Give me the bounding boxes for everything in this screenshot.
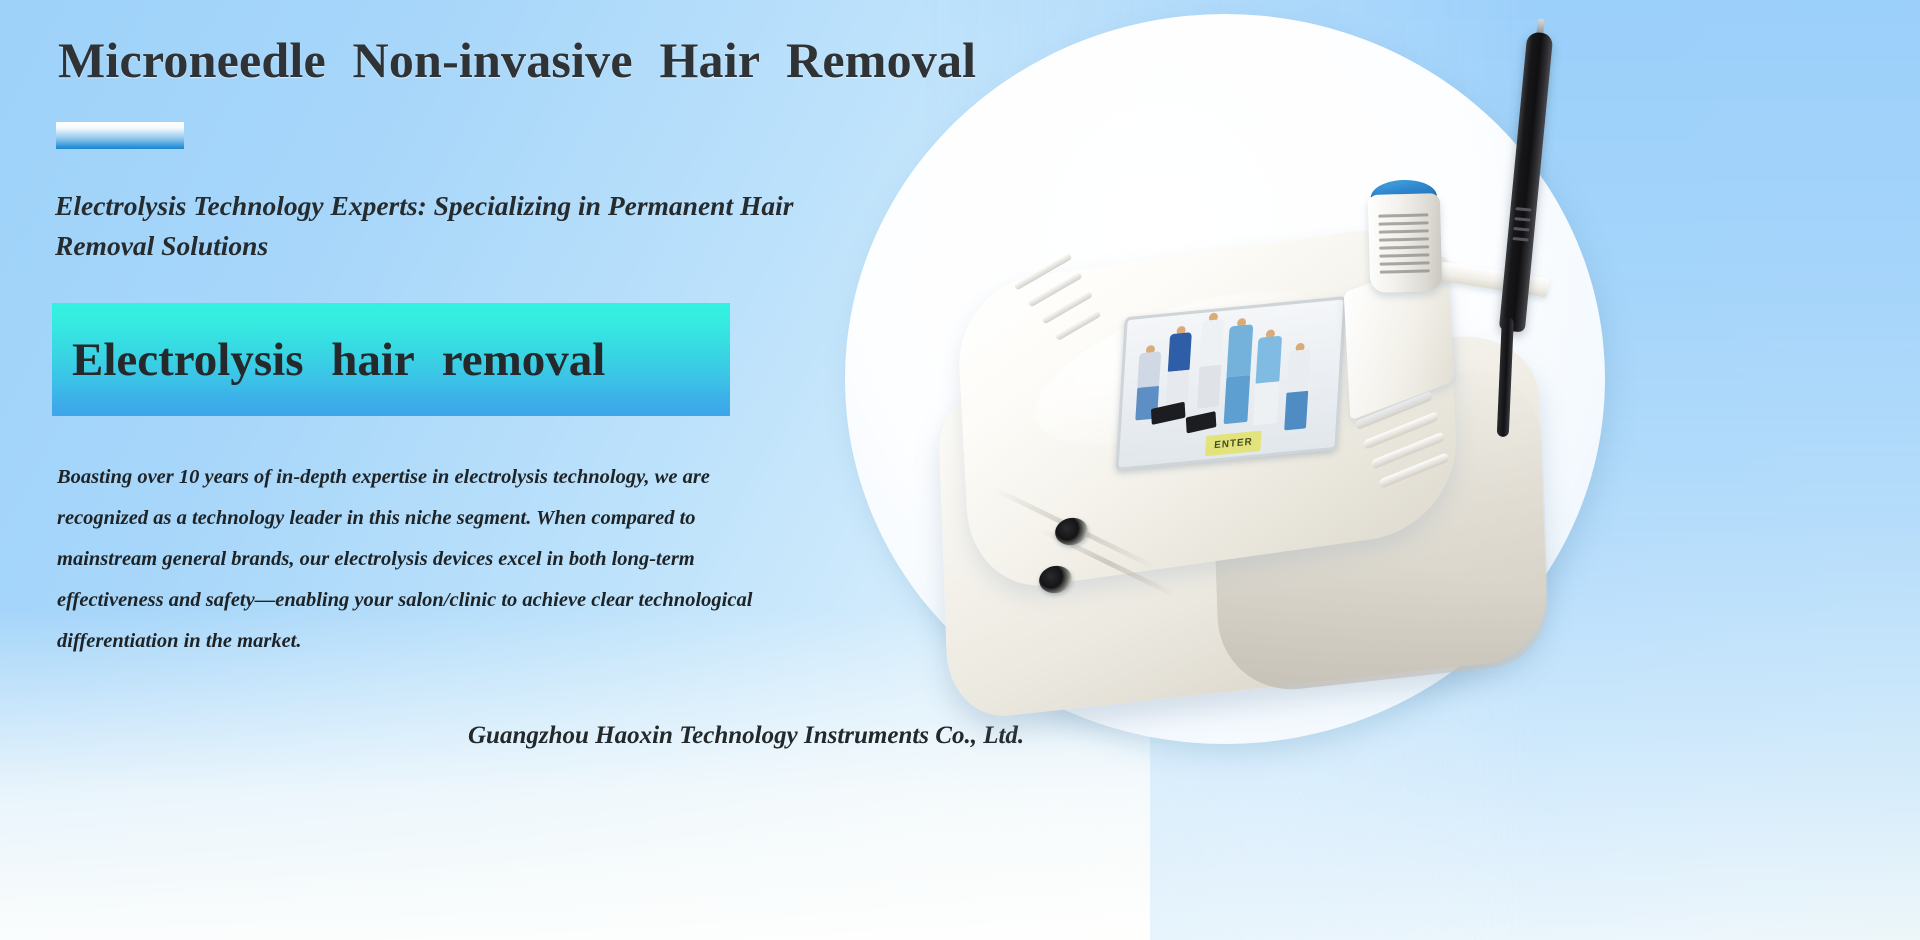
holder-slit: [1380, 269, 1430, 273]
highlight-banner: Electrolysis hair removal: [52, 303, 730, 416]
screen-figure: [1284, 349, 1311, 430]
screen-figure: [1166, 332, 1192, 407]
screen-figure: [1197, 319, 1224, 409]
highlight-banner-label: Electrolysis hair removal: [52, 333, 605, 387]
body-paragraph: Boasting over 10 years of in-depth exper…: [57, 457, 777, 662]
holder-slit: [1379, 253, 1429, 257]
screen-graphic: ENTER: [1119, 299, 1344, 467]
handpiece-grip-ring: [1512, 237, 1528, 242]
holder-slit: [1379, 229, 1429, 233]
screen-figure-torso: [1168, 332, 1192, 372]
screen-figure-torso: [1256, 336, 1283, 384]
holder-slit: [1379, 237, 1429, 241]
handpiece-grip-ring: [1513, 227, 1529, 232]
holder-slit: [1380, 261, 1430, 265]
screen-figure-torso: [1287, 349, 1311, 392]
screen-figure: [1224, 324, 1254, 424]
probe-holder: [1365, 179, 1444, 301]
screen-figure-legs: [1253, 381, 1279, 425]
screen-figure-torso: [1137, 351, 1161, 388]
page-title: Microneedle Non-invasive Hair Removal: [58, 33, 978, 88]
screen-enter-button[interactable]: ENTER: [1205, 431, 1262, 457]
screen-figure-legs: [1197, 364, 1221, 408]
screen-figure-legs: [1166, 370, 1190, 407]
product-image: ENTER: [845, 0, 1920, 940]
probe-holder-body: [1368, 193, 1443, 293]
screen-figure-legs: [1224, 375, 1251, 424]
screen-figure-torso: [1200, 319, 1225, 367]
product-banner: Microneedle Non-invasive Hair Removal El…: [0, 0, 1920, 940]
title-divider-bar: [56, 122, 184, 149]
screen-figure: [1253, 336, 1282, 426]
holder-slit: [1379, 221, 1429, 225]
holder-slit: [1378, 213, 1428, 217]
screen-dark-block: [1186, 411, 1217, 434]
handpiece-grip-ring: [1514, 217, 1530, 222]
electrolysis-machine: ENTER: [915, 210, 1575, 720]
holder-slit: [1379, 245, 1429, 249]
handpiece-grip-ring: [1515, 207, 1531, 212]
subtitle: Electrolysis Technology Experts: Special…: [55, 186, 795, 266]
screen-figure-torso: [1226, 324, 1253, 377]
screen-figure-legs: [1284, 390, 1308, 430]
machine-lcd-screen[interactable]: ENTER: [1116, 296, 1347, 471]
